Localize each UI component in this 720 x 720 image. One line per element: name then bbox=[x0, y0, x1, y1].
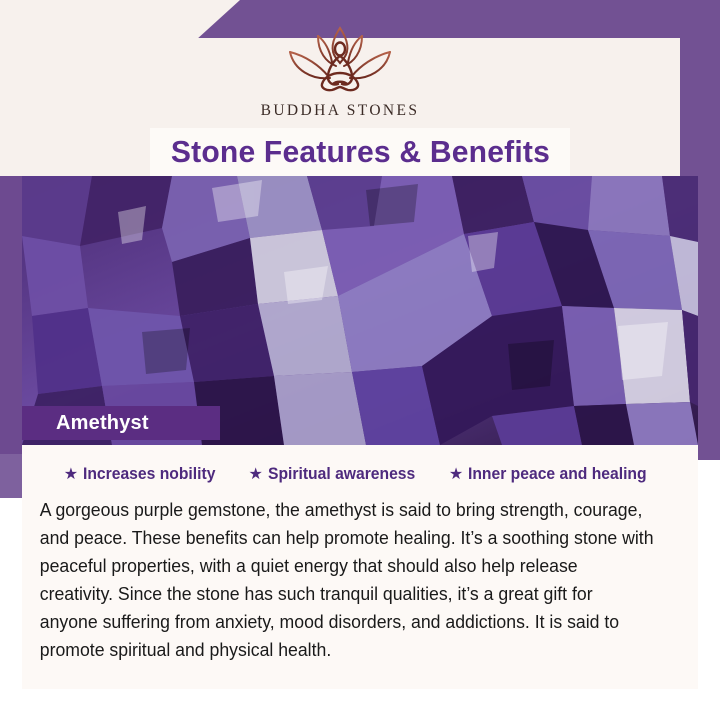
stone-name: Amethyst bbox=[56, 412, 149, 435]
benefit-label: Inner peace and healing bbox=[468, 465, 647, 484]
page-title: Stone Features & Benefits bbox=[170, 134, 549, 170]
infographic-page: BUDDHA STONES Stone Features & Benefits bbox=[0, 0, 720, 720]
title-bar: Stone Features & Benefits bbox=[150, 128, 570, 176]
benefits-list: ★ Increases nobility ★ Spiritual awarene… bbox=[34, 465, 686, 484]
benefit-item: ★ Inner peace and healing bbox=[449, 465, 656, 484]
frame-band-left-dark bbox=[0, 168, 22, 454]
star-icon: ★ bbox=[249, 467, 263, 483]
stone-description: A gorgeous purple gemstone, the amethyst… bbox=[34, 496, 660, 664]
stone-info-card: ★ Increases nobility ★ Spiritual awarene… bbox=[22, 445, 698, 689]
brand-name: BUDDHA STONES bbox=[261, 102, 420, 120]
benefit-label: Spiritual awareness bbox=[268, 465, 415, 484]
stone-name-banner: Amethyst bbox=[22, 406, 220, 440]
benefit-item: ★ Spiritual awareness bbox=[249, 465, 423, 484]
star-icon: ★ bbox=[449, 467, 463, 483]
lotus-meditating-buddha-icon bbox=[266, 22, 414, 96]
brand-logo: BUDDHA STONES bbox=[0, 22, 680, 120]
amethyst-crystal-photo bbox=[22, 176, 698, 445]
benefit-label: Increases nobility bbox=[83, 465, 215, 484]
star-icon: ★ bbox=[64, 467, 78, 483]
benefit-item: ★ Increases nobility bbox=[64, 465, 223, 484]
footer-whitespace bbox=[0, 689, 720, 720]
